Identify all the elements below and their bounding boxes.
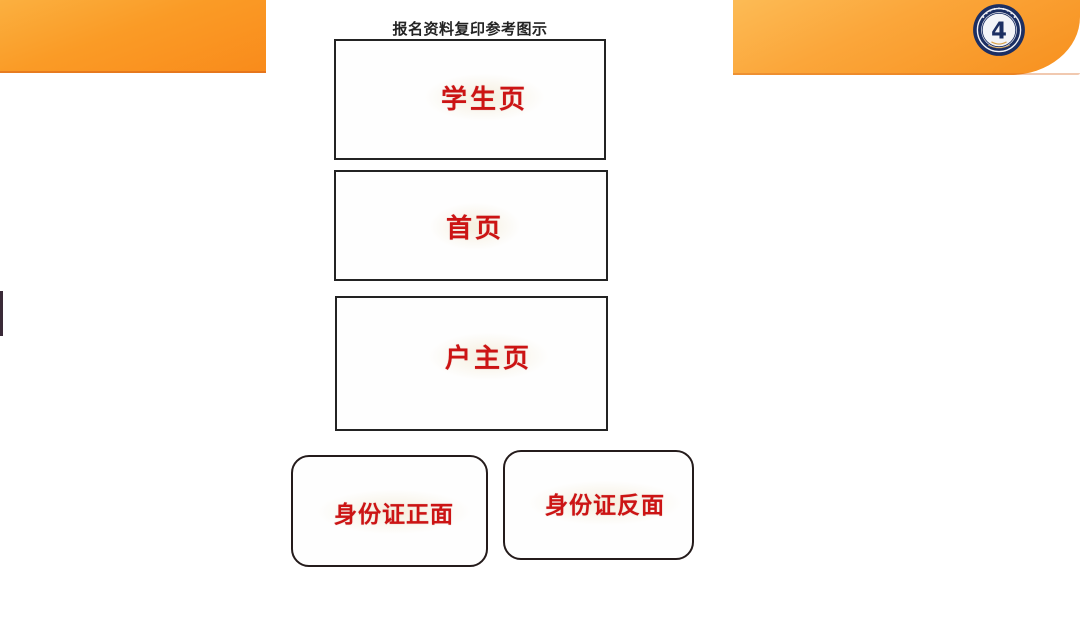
document-box-id-card-front-label: 身份证正面 xyxy=(318,490,470,534)
scanned-instruction-sheet: 报名资料复印参考图示 学生页 首页 户主页 身份证正面 身份证反面 xyxy=(0,0,1080,623)
document-box-householder-page-label: 户主页 xyxy=(429,333,548,380)
document-box-id-card-back-label: 身份证反面 xyxy=(529,481,681,525)
document-box-student-page-label: 学生页 xyxy=(425,74,544,121)
document-box-home-page-label: 首页 xyxy=(430,203,520,250)
scan-edge-artifact xyxy=(0,291,3,336)
diagram-title: 报名资料复印参考图示 xyxy=(334,18,606,39)
